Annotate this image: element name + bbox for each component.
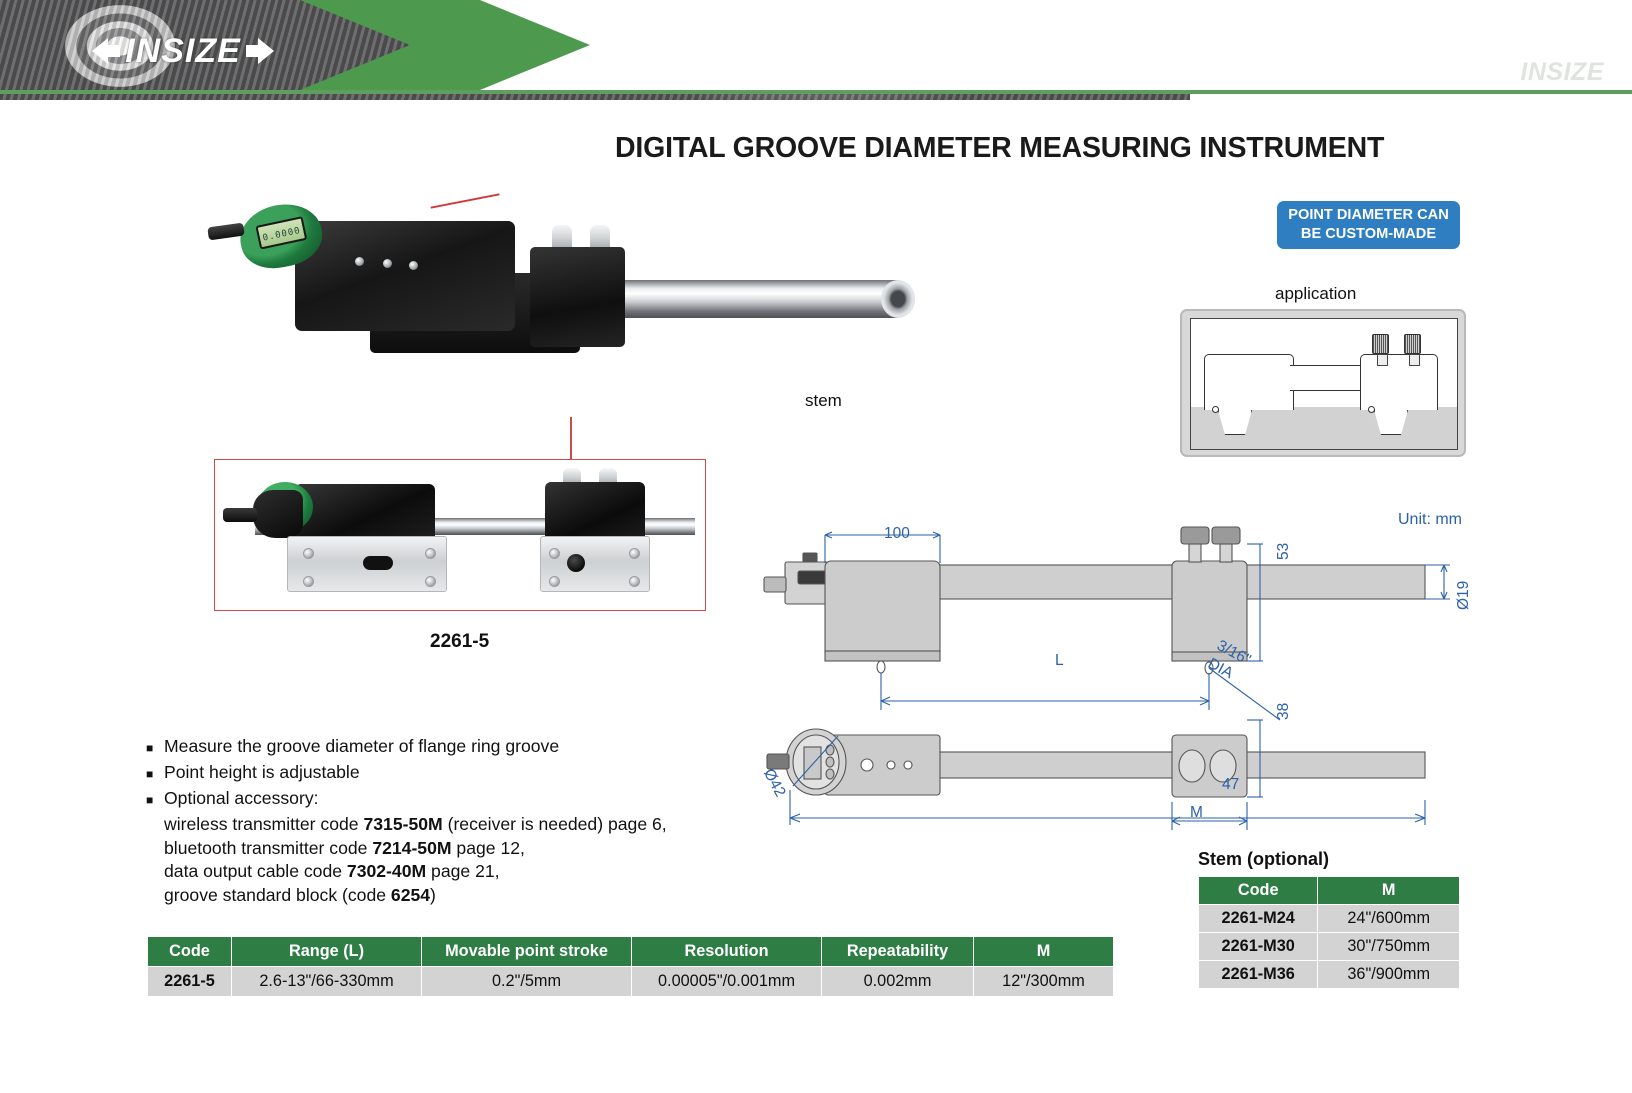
dim-53-label: 53	[1275, 543, 1293, 560]
stem-header-code: Code	[1199, 877, 1318, 905]
table-row: 2261-M36 36"/900mm	[1199, 961, 1460, 989]
spec-cell-stroke: 0.2"/5mm	[422, 967, 632, 997]
stem-cell-m-1: 24"/600mm	[1318, 905, 1460, 933]
application-knob-left-icon	[1372, 334, 1389, 354]
stem-header-m: M	[1318, 877, 1460, 905]
dim-38-label: 38	[1275, 703, 1293, 720]
application-label: application	[1275, 284, 1356, 304]
application-gauge-block	[1204, 354, 1294, 410]
product-screw-group	[355, 257, 435, 269]
detail-screw-5	[549, 548, 560, 559]
bullet-square-icon: ■	[146, 735, 164, 761]
accessory-1-pre: wireless transmitter code	[164, 814, 363, 834]
accessory-2-pre: bluetooth transmitter code	[164, 838, 372, 858]
accessory-1-post: (receiver is needed) page 6,	[443, 814, 667, 834]
accessory-4-post: )	[430, 885, 436, 905]
detail-indicator-housing	[253, 490, 303, 538]
detail-adjust-slot	[363, 556, 393, 570]
detail-slider-black-body	[545, 482, 645, 542]
bullet-square-icon: ■	[146, 761, 164, 787]
stem-cell-m-3: 36"/900mm	[1318, 961, 1460, 989]
product-cable-connector	[207, 223, 244, 241]
feature-list: ■ Measure the groove diameter of flange …	[146, 735, 786, 907]
product-code-caption: 2261-5	[430, 631, 489, 653]
accessory-line-1: wireless transmitter code 7315-50M (rece…	[164, 813, 786, 837]
product-detail-photo	[214, 459, 706, 611]
accessory-4-pre: groove standard block (code	[164, 885, 391, 905]
badge-line-1: POINT DIAMETER CAN	[1288, 206, 1449, 225]
product-lcd-display: 0.0000	[255, 216, 307, 249]
spec-cell-resolution: 0.00005"/0.001mm	[632, 967, 822, 997]
product-sliding-clamp	[530, 247, 625, 347]
accessory-line-3: data output cable code 7302-40M page 21,	[164, 860, 786, 884]
table-row: 2261-M30 30"/750mm	[1199, 933, 1460, 961]
detail-screw-1	[303, 548, 314, 559]
insize-logo: INSIZE	[88, 30, 278, 72]
detail-screw-7	[549, 576, 560, 587]
stem-cell-m-2: 30"/750mm	[1318, 933, 1460, 961]
application-diagram	[1180, 309, 1466, 457]
page-header: INSIZE	[0, 0, 1632, 100]
spec-header-range: Range (L)	[232, 937, 422, 967]
table-row: 2261-5 2.6-13"/66-330mm 0.2"/5mm 0.00005…	[148, 967, 1114, 997]
detail-connector-line	[570, 417, 572, 459]
spec-header-repeatability: Repeatability	[822, 937, 974, 967]
spec-cell-repeatability: 0.002mm	[822, 967, 974, 997]
page-title: DIGITAL GROOVE DIAMETER MEASURING INSTRU…	[615, 132, 1485, 165]
accessory-line-4: groove standard block (code 6254)	[164, 884, 786, 908]
dim-100-label: 100	[884, 525, 910, 543]
accessory-2-post: page 12,	[452, 838, 525, 858]
dim-M-label: M	[1190, 804, 1203, 822]
stem-cell-code-2: 2261-M30	[1199, 933, 1318, 961]
accessory-3-pre: data output cable code	[164, 861, 347, 881]
detail-screw-8	[629, 576, 640, 587]
stem-table-header-row: Code M	[1199, 877, 1460, 905]
application-slider-block	[1360, 354, 1438, 410]
feature-text-2: Point height is adjustable	[164, 761, 786, 787]
dim-L-label: L	[1055, 652, 1064, 670]
detail-screw-4	[425, 576, 436, 587]
custom-made-badge: POINT DIAMETER CAN BE CUSTOM-MADE	[1277, 201, 1460, 249]
insize-watermark-text: INSIZE	[1520, 58, 1604, 86]
detail-cable-connector	[223, 508, 257, 522]
spec-header-resolution: Resolution	[632, 937, 822, 967]
specification-table: Code Range (L) Movable point stroke Reso…	[147, 936, 1114, 997]
application-stem-bar	[1290, 365, 1365, 391]
dim-d19-label: Ø19	[1455, 581, 1473, 610]
spec-header-stroke: Movable point stroke	[422, 937, 632, 967]
insize-watermark: INSIZE	[1520, 58, 1604, 87]
accessory-2-code: 7214-50M	[372, 838, 451, 858]
application-point-right-icon	[1368, 406, 1375, 413]
spec-cell-code: 2261-5	[148, 967, 232, 997]
product-screw-3	[409, 261, 418, 270]
feature-text-1: Measure the groove diameter of flange ri…	[164, 735, 786, 761]
spec-table-header-row: Code Range (L) Movable point stroke Reso…	[148, 937, 1114, 967]
white-chevron-overlay	[430, 0, 1632, 90]
spec-cell-m: 12"/300mm	[974, 967, 1114, 997]
dim-47-label: 47	[1222, 776, 1239, 794]
product-main-body	[295, 221, 515, 331]
stem-optional-table: Code M 2261-M24 24"/600mm 2261-M30 30"/7…	[1198, 876, 1460, 989]
spec-header-code: Code	[148, 937, 232, 967]
feature-item-1: ■ Measure the groove diameter of flange …	[146, 735, 786, 761]
application-knob-right-icon	[1404, 334, 1421, 354]
accessory-3-post: page 21,	[426, 861, 499, 881]
detail-screw-2	[425, 548, 436, 559]
product-screw-2	[383, 259, 392, 268]
feature-text-3: Optional accessory:	[164, 787, 786, 813]
table-row: 2261-M24 24"/600mm	[1199, 905, 1460, 933]
product-photo-main: 0.0000	[200, 195, 920, 485]
accessory-line-2: bluetooth transmitter code 7214-50M page…	[164, 837, 786, 861]
badge-line-2: BE CUSTOM-MADE	[1301, 225, 1436, 244]
technical-drawing-top-view	[760, 690, 1450, 840]
accessory-3-code: 7302-40M	[347, 861, 426, 881]
detail-screw-6	[629, 548, 640, 559]
stem-callout-label: stem	[805, 391, 842, 411]
stem-cell-code-1: 2261-M24	[1199, 905, 1318, 933]
spec-header-m: M	[974, 937, 1114, 967]
product-screw-1	[355, 257, 364, 266]
detail-mount-hole	[567, 554, 585, 572]
feature-item-3: ■ Optional accessory:	[146, 787, 786, 813]
header-bottom-rule	[0, 90, 1632, 94]
stem-table-title: Stem (optional)	[1198, 849, 1329, 870]
accessory-1-code: 7315-50M	[363, 814, 442, 834]
accessory-4-code: 6254	[391, 885, 430, 905]
application-point-left-icon	[1212, 406, 1219, 413]
stem-cell-code-3: 2261-M36	[1199, 961, 1318, 989]
spec-cell-range: 2.6-13"/66-330mm	[232, 967, 422, 997]
insize-logo-text: INSIZE	[88, 30, 278, 72]
feature-item-2: ■ Point height is adjustable	[146, 761, 786, 787]
detail-main-black-body	[295, 484, 435, 542]
detail-screw-3	[303, 576, 314, 587]
datasheet-page: INSIZE INSIZE DIGITAL GROOVE DIAMETER ME…	[0, 0, 1632, 1093]
bullet-square-icon: ■	[146, 787, 164, 813]
